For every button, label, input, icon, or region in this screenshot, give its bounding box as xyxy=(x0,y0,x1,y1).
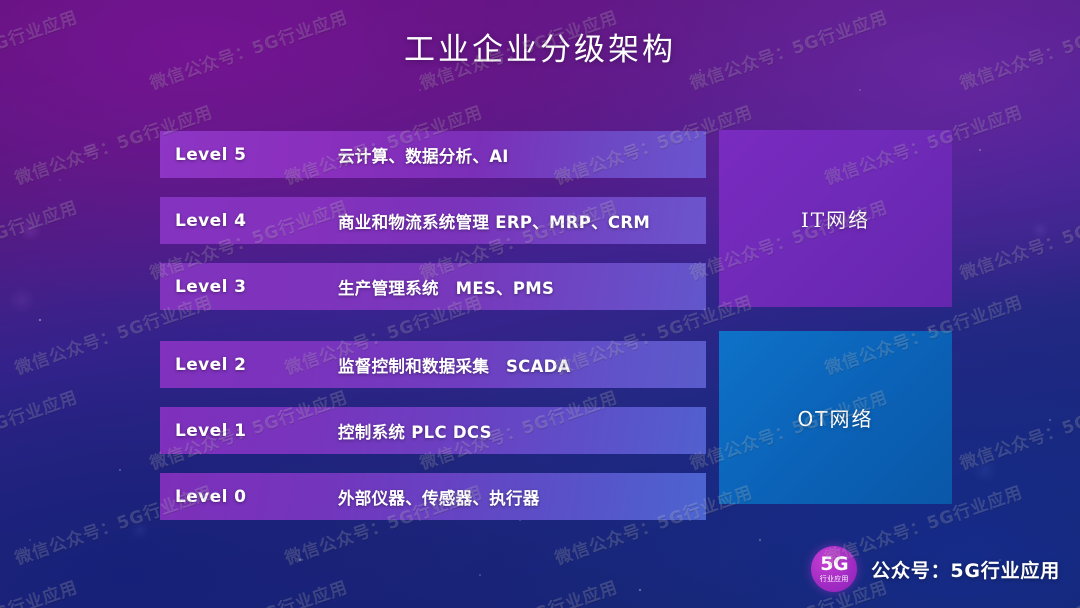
brand-logo-icon: 5G 行业应用 xyxy=(811,546,857,592)
row-gap-divider xyxy=(160,310,706,341)
watermark-text: 微信公众号：5G行业应用 xyxy=(0,193,81,284)
level-label: Level 3 xyxy=(160,277,338,297)
watermark-text: 微信公众号：5G行业应用 xyxy=(956,193,1080,284)
ot-network-label: OT网络 xyxy=(798,403,874,432)
brand-logo-main: 5G xyxy=(820,555,848,574)
level-row: Level 3 生产管理系统 MES、PMS xyxy=(160,263,706,310)
brand-text: 公众号：5G行业应用 xyxy=(871,556,1060,583)
it-network-box: IT网络 xyxy=(719,130,952,307)
level-row: Level 1 控制系统 PLC DCS xyxy=(160,407,706,454)
row-gap xyxy=(160,454,706,473)
watermark-text: 微信公众号：5G行业应用 xyxy=(146,573,351,608)
level-description: 生产管理系统 MES、PMS xyxy=(338,275,706,299)
level-label: Level 5 xyxy=(160,145,338,165)
watermark-text: 微信公众号：5G行业应用 xyxy=(0,573,81,608)
level-description: 商业和物流系统管理 ERP、MRP、CRM xyxy=(338,209,706,233)
level-description: 监督控制和数据采集 SCADA xyxy=(338,353,706,377)
watermark-text: 微信公众号：5G行业应用 xyxy=(0,383,81,474)
level-label: Level 1 xyxy=(160,421,338,441)
slide-canvas: 工业企业分级架构 Level 5 云计算、数据分析、AI Level 4 商业和… xyxy=(0,0,1080,608)
it-network-label: IT网络 xyxy=(801,204,870,233)
level-description: 外部仪器、传感器、执行器 xyxy=(338,485,706,509)
row-gap xyxy=(160,178,706,197)
level-row: Level 2 监督控制和数据采集 SCADA xyxy=(160,341,706,388)
level-stack: Level 5 云计算、数据分析、AI Level 4 商业和物流系统管理 ER… xyxy=(160,131,706,520)
watermark-text: 微信公众号：5G行业应用 xyxy=(416,573,621,608)
row-gap xyxy=(160,388,706,407)
level-label: Level 0 xyxy=(160,487,338,507)
brand-logo-sub: 行业应用 xyxy=(820,576,849,583)
level-row: Level 5 云计算、数据分析、AI xyxy=(160,131,706,178)
row-gap xyxy=(160,244,706,263)
level-description: 云计算、数据分析、AI xyxy=(338,143,706,167)
level-description: 控制系统 PLC DCS xyxy=(338,419,706,443)
brand-footer: 5G 行业应用 公众号：5G行业应用 xyxy=(811,546,1060,592)
level-label: Level 2 xyxy=(160,355,338,375)
page-title: 工业企业分级架构 xyxy=(0,24,1080,69)
ot-network-box: OT网络 xyxy=(719,331,952,504)
level-row: Level 0 外部仪器、传感器、执行器 xyxy=(160,473,706,520)
level-label: Level 4 xyxy=(160,211,338,231)
level-row: Level 4 商业和物流系统管理 ERP、MRP、CRM xyxy=(160,197,706,244)
watermark-text: 微信公众号：5G行业应用 xyxy=(956,383,1080,474)
